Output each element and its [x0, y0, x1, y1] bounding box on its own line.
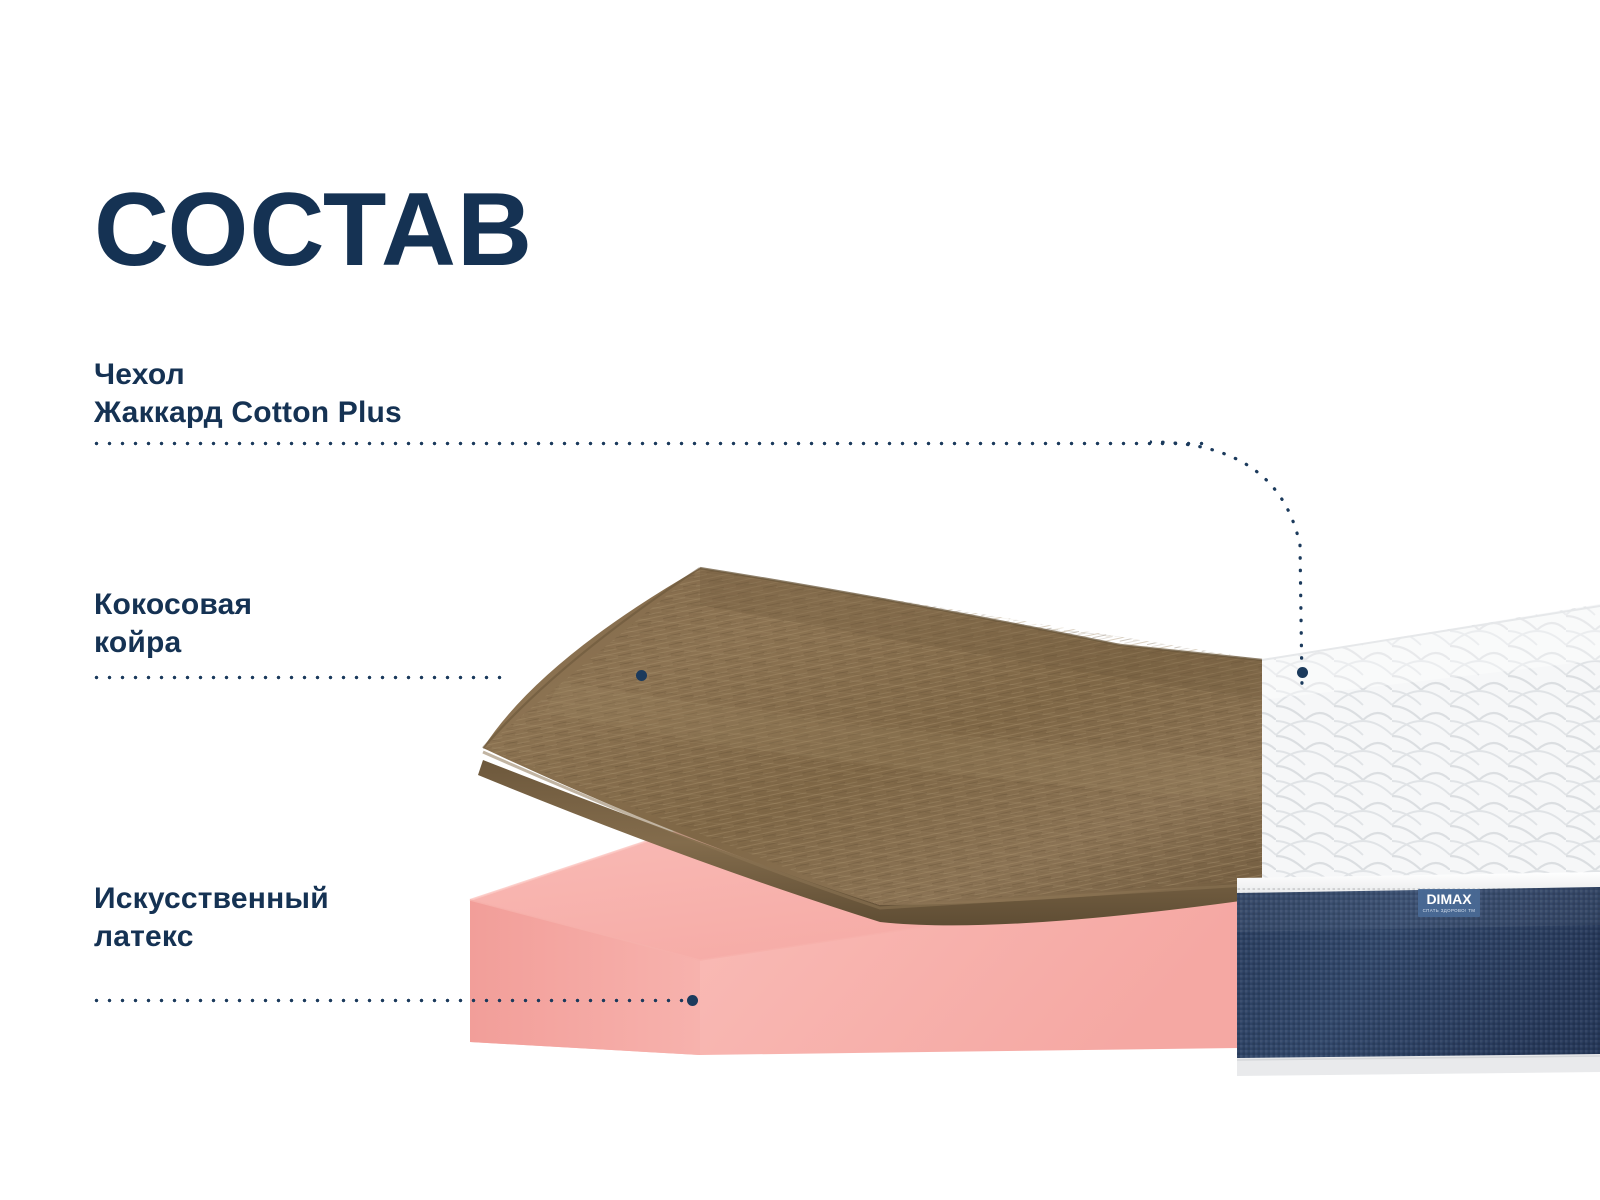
layer-label-latex-line2: латекс [94, 918, 329, 956]
layer-label-cover-line1: Чехол [94, 358, 185, 391]
layer-label-coir-line2: койра [94, 624, 252, 662]
mattress-side-panel [1230, 885, 1600, 1076]
cover-layer-shape [1250, 596, 1600, 896]
layer-label-latex-line1: Искусственный [94, 882, 329, 915]
leader-dot-coir [636, 670, 647, 681]
leader-dot-latex [687, 995, 698, 1006]
layer-label-coir-line1: Кокосовая [94, 588, 252, 621]
layer-label-coir: Кокосовая койра [94, 586, 252, 663]
layer-label-latex: Искусственный латекс [94, 880, 329, 957]
layer-label-cover-line2: Жаккард Cotton Plus [94, 394, 402, 432]
leader-line-cover [90, 441, 1205, 446]
brand-tag-name: DIMAX [1426, 891, 1472, 907]
page-title: СОСТАВ [94, 178, 533, 282]
leader-dot-cover [1297, 667, 1308, 678]
leader-line-coir [90, 675, 510, 680]
brand-tag: DIMAX СПАТЬ ЗДОРОВО! ТМ [1418, 889, 1480, 917]
leader-line-latex [90, 998, 690, 1003]
brand-tag-subtitle: СПАТЬ ЗДОРОВО! ТМ [1423, 908, 1476, 913]
layer-label-cover: Чехол Жаккард Cotton Plus [94, 356, 402, 433]
composition-infographic: DIMAX СПАТЬ ЗДОРОВО! ТМ СОСТАВ Чехол Жак… [0, 0, 1600, 1200]
